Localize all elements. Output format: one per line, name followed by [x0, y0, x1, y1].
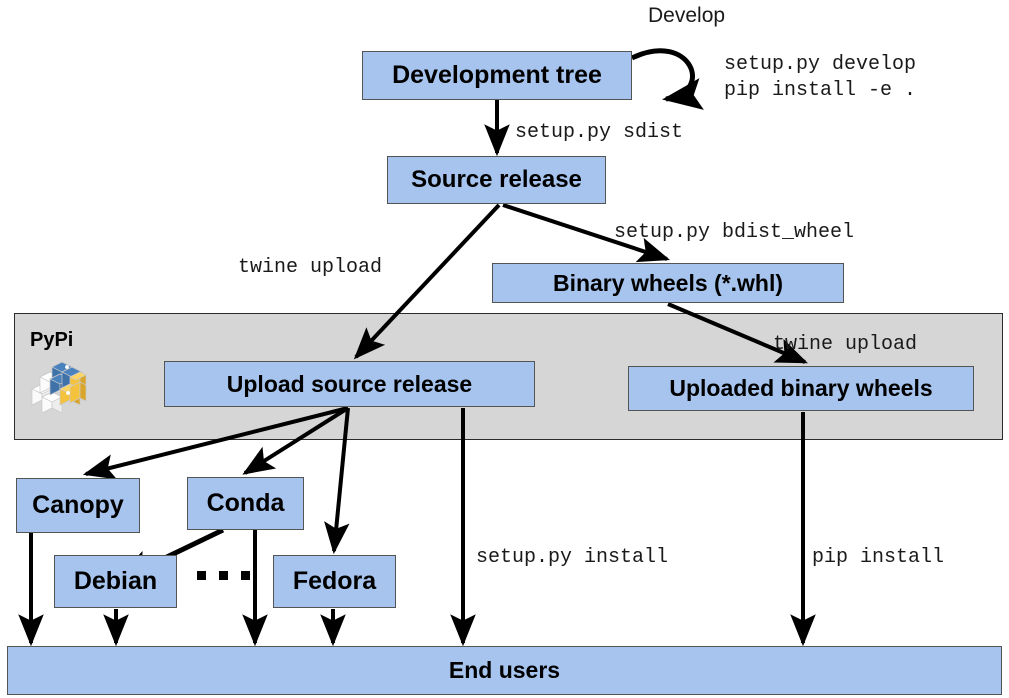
- node-canopy[interactable]: Canopy: [16, 478, 140, 533]
- node-end-users-label: End users: [449, 659, 560, 682]
- edge-label-pip-install: pip install: [812, 545, 944, 571]
- edge-label-twine-upload-source: twine upload: [238, 255, 382, 281]
- edge-label-setup-py-install: setup.py install: [476, 545, 668, 571]
- ellipsis-dot: [219, 571, 228, 580]
- node-binary-wheels-label: Binary wheels (*.whl): [553, 272, 783, 295]
- node-end-users[interactable]: End users: [7, 646, 1002, 695]
- node-canopy-label: Canopy: [32, 493, 124, 518]
- node-source-release[interactable]: Source release: [387, 156, 606, 204]
- node-upload-source-release[interactable]: Upload source release: [164, 361, 535, 407]
- edge-label-setup-py-bdist-wheel: setup.py bdist_wheel: [614, 220, 854, 246]
- ellipsis-dot: [197, 571, 206, 580]
- edge-label-twine-upload-wheels: twine upload: [773, 332, 917, 358]
- edge-label-develop: Develop: [648, 4, 725, 28]
- node-debian[interactable]: Debian: [54, 555, 177, 608]
- node-development-tree-label: Development tree: [392, 63, 602, 88]
- node-uploaded-binary-wheels-label: Uploaded binary wheels: [669, 377, 932, 400]
- node-fedora[interactable]: Fedora: [273, 555, 396, 608]
- edge-label-develop-commands: setup.py develop pip install -e .: [724, 52, 916, 103]
- pypi-python-cubes-logo-icon: [28, 355, 90, 413]
- diagram-canvas: PyPi: [0, 0, 1009, 698]
- node-conda-label: Conda: [207, 491, 285, 516]
- edge-label-setup-py-sdist: setup.py sdist: [515, 120, 683, 146]
- node-conda[interactable]: Conda: [187, 477, 304, 530]
- node-upload-source-release-label: Upload source release: [227, 373, 472, 396]
- node-development-tree[interactable]: Development tree: [362, 51, 632, 100]
- node-uploaded-binary-wheels[interactable]: Uploaded binary wheels: [628, 366, 974, 411]
- node-fedora-label: Fedora: [293, 569, 376, 594]
- ellipsis-dot: [241, 571, 250, 580]
- node-binary-wheels[interactable]: Binary wheels (*.whl): [492, 263, 844, 303]
- ellipsis-dots: [197, 571, 250, 580]
- pypi-group-label: PyPi: [30, 329, 73, 352]
- node-source-release-label: Source release: [411, 168, 582, 192]
- node-debian-label: Debian: [74, 569, 157, 594]
